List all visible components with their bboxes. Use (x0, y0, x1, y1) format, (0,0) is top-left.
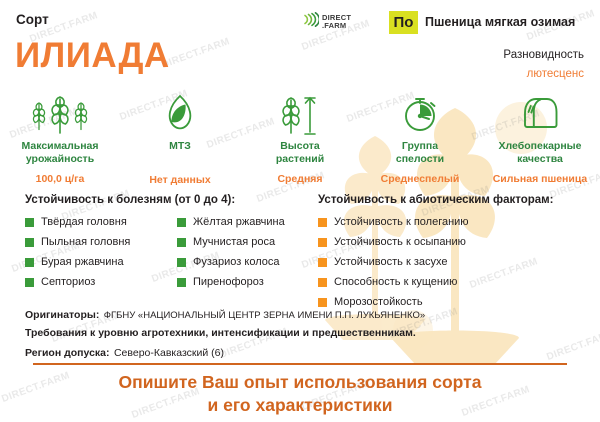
abiotic-resistance-section: Устойчивость к абиотическим факторам: Ус… (318, 194, 593, 312)
requirements-line: Требования к уровню агротехники, интенси… (25, 326, 425, 341)
subtype-label: Разновидность (503, 49, 584, 61)
originators-value: ФГБНУ «НАЦИОНАЛЬНЫЙ ЦЕНТР ЗЕРНА ИМЕНИ П.… (104, 310, 425, 321)
list-item: Пиренофороз (177, 272, 285, 292)
stat-label-line1: Высота (280, 140, 320, 152)
originators-line: Оригинаторы: ФГБНУ «НАЦИОНАЛЬНЫЙ ЦЕНТР З… (25, 303, 425, 326)
region-key: Регион допуска: (25, 347, 110, 359)
stats-row: Максимальная урожайность 100,0 ц/га МТЗ (0, 93, 600, 186)
list-item: Бурая ржавчина (25, 252, 177, 272)
region-value: Северо-Кавказский (6) (114, 347, 224, 359)
subtype-value: лютесценс (527, 68, 584, 80)
list-item-label: Мучнистая роса (193, 236, 275, 248)
green-square-icon (25, 278, 34, 287)
green-square-icon (177, 238, 186, 247)
list-item-label: Устойчивость к полеганию (334, 216, 469, 228)
stat-label-line1: Хлебопекарные (499, 140, 582, 152)
orange-square-icon (318, 218, 327, 227)
disease-bullet-grid: Твёрдая головня Пыльная головня Бурая рж… (25, 212, 315, 292)
stat-label: Группа спелости (396, 140, 444, 166)
wheat-ears-icon (28, 93, 92, 135)
stat-plant-height: Высота растений Средняя (240, 93, 360, 186)
green-square-icon (25, 218, 34, 227)
sort-label: Сорт (16, 12, 49, 27)
cta-line-1: Опишите Ваш опыт использования сорта (119, 372, 482, 392)
plant-height-icon (277, 93, 323, 135)
list-item-label: Септориоз (41, 276, 95, 288)
green-square-icon (177, 278, 186, 287)
abiotic-list: Устойчивость к полеганию Устойчивость к … (318, 212, 593, 312)
list-item-label: Способность к кущению (334, 276, 457, 288)
list-item: Устойчивость к полеганию (318, 212, 593, 232)
list-item: Устойчивость к осыпанию (318, 232, 593, 252)
green-square-icon (25, 258, 34, 267)
stat-label: Хлебопекарные качества (499, 140, 582, 166)
green-square-icon (25, 238, 34, 247)
green-square-icon (177, 258, 186, 267)
logo-text: DIRECT .FARM (322, 14, 351, 30)
stat-label-line2: урожайность (26, 153, 94, 165)
originators-key: Оригинаторы: (25, 309, 99, 321)
stat-label-line1: Группа (402, 140, 438, 152)
orange-square-icon (318, 238, 327, 247)
crop-name: Пшеница мягкая озимая (425, 15, 575, 29)
stat-value: Средняя (277, 173, 322, 186)
list-item: Твёрдая головня (25, 212, 177, 232)
divider (33, 363, 567, 365)
disease-resistance-title: Устойчивость к болезням (от 0 до 4): (25, 194, 315, 206)
stat-label-line1: Максимальная (21, 140, 98, 152)
list-item-label: Фузариоз колоса (193, 256, 279, 268)
logo-line-2: .FARM (322, 21, 346, 30)
list-item-label: Пыльная головня (41, 236, 130, 248)
disease-column-2: Жёлтая ржавчина Мучнистая роса Фузариоз … (177, 212, 285, 292)
variety-info-card: DIRECT.FARM DIRECT.FARM DIRECT.FARM DIRE… (0, 0, 600, 422)
stat-label-line1: МТЗ (169, 140, 191, 152)
notes-section: Оригинаторы: ФГБНУ «НАЦИОНАЛЬНЫЙ ЦЕНТР З… (25, 303, 425, 363)
list-item: Устойчивость к засухе (318, 252, 593, 272)
stopwatch-icon (400, 93, 440, 135)
stat-tkw: МТЗ Нет данных (120, 93, 240, 186)
list-item-label: Пиренофороз (193, 276, 264, 288)
signal-waves-icon (302, 12, 319, 32)
orange-square-icon (318, 258, 327, 267)
stat-label: Высота растений (276, 140, 324, 166)
list-item-label: Твёрдая головня (41, 216, 127, 228)
seed-drop-icon (163, 93, 197, 135)
list-item-label: Бурая ржавчина (41, 256, 124, 268)
orange-square-icon (318, 278, 327, 287)
stat-label: Максимальная урожайность (21, 140, 98, 166)
disease-column-1: Твёрдая головня Пыльная головня Бурая рж… (25, 212, 177, 292)
green-square-icon (177, 218, 186, 227)
cta-text[interactable]: Опишите Ваш опыт использования сорта и е… (0, 371, 600, 417)
status-badge-po: По (389, 11, 418, 34)
list-item-label: Жёлтая ржавчина (193, 216, 285, 228)
list-item: Фузариоз колоса (177, 252, 285, 272)
stat-value: 100,0 ц/га (36, 173, 85, 186)
stat-value: Сильная пшеница (493, 173, 588, 186)
direct-farm-logo[interactable]: DIRECT .FARM (302, 12, 351, 32)
list-item: Мучнистая роса (177, 232, 285, 252)
abiotic-resistance-title: Устойчивость к абиотическим факторам: (318, 194, 593, 206)
stat-label-line2: спелости (396, 153, 444, 165)
region-line: Регион допуска: Северо-Кавказский (6) (25, 341, 425, 364)
list-item: Пыльная головня (25, 232, 177, 252)
stat-ripeness-group: Группа спелости Среднеспелый (360, 93, 480, 186)
list-item: Септориоз (25, 272, 177, 292)
stat-value: Среднеспелый (381, 173, 460, 186)
page-title: ИЛИАДА (15, 38, 170, 73)
stat-baking-quality: Хлебопекарные качества Сильная пшеница (480, 93, 600, 186)
bread-loaf-icon (517, 93, 563, 135)
disease-resistance-section: Устойчивость к болезням (от 0 до 4): Твё… (25, 194, 315, 292)
stat-max-yield: Максимальная урожайность 100,0 ц/га (0, 93, 120, 186)
list-item: Способность к кущению (318, 272, 593, 292)
stat-value: Нет данных (149, 174, 210, 187)
stat-label: МТЗ (169, 140, 191, 153)
list-item-label: Устойчивость к осыпанию (334, 236, 466, 248)
cta-line-2: и его характеристики (208, 395, 393, 415)
list-item: Жёлтая ржавчина (177, 212, 285, 232)
list-item-label: Устойчивость к засухе (334, 256, 448, 268)
stat-label-line2: растений (276, 153, 324, 165)
stat-label-line2: качества (517, 153, 563, 165)
